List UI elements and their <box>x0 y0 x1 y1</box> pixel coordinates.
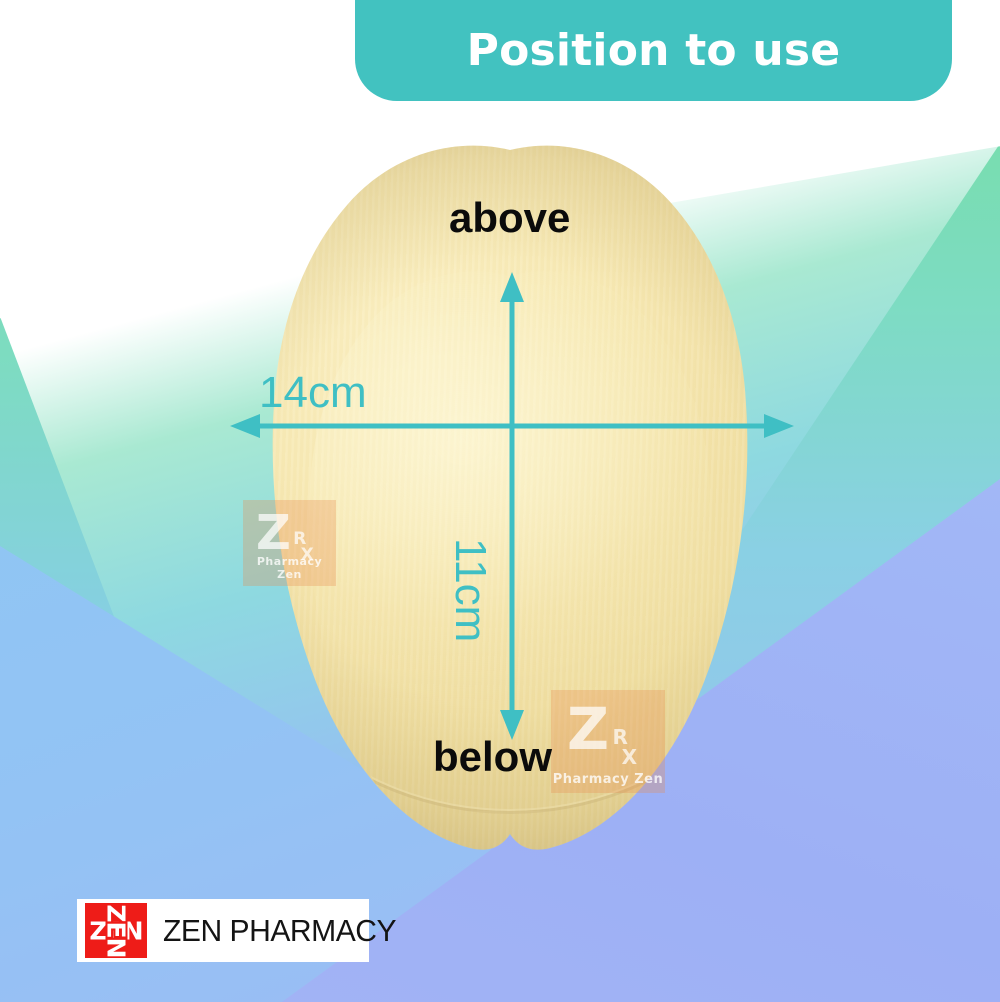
header-banner: Position to use <box>355 0 952 101</box>
watermark-x-letter: X <box>622 747 637 767</box>
watermark-z-letter: Z <box>567 700 609 758</box>
label-height-11cm: 11cm <box>448 538 492 642</box>
watermark-pharmacy-zen: Z R X Pharmacy Zen <box>551 690 665 793</box>
product-infographic: Position to use Z R X Pharmacy Zen <box>0 0 1000 1002</box>
watermark-caption: Pharmacy Zen <box>551 772 665 787</box>
label-width-14cm: 14cm <box>259 371 367 415</box>
zen-logo-mark: ZEN ZEN <box>85 903 147 958</box>
label-below: below <box>433 736 552 778</box>
watermark-caption: Pharmacy Zen <box>243 555 336 581</box>
watermark-pharmacy-zen: Z R X Pharmacy Zen <box>243 500 336 586</box>
watermark-z-letter: Z <box>256 509 291 557</box>
brand-logo: ZEN ZEN ZEN PHARMACY <box>77 899 369 962</box>
zen-mark-vertical: ZEN <box>104 904 129 957</box>
label-above: above <box>449 197 570 239</box>
brand-name: ZEN PHARMACY <box>163 913 396 949</box>
banner-title: Position to use <box>467 29 841 73</box>
